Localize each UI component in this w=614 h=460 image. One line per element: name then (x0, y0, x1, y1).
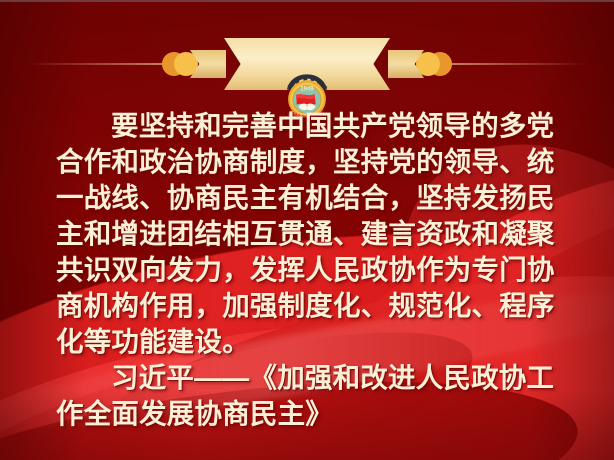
quote-attribution: 习近平——《加强和改进人民政协工作全面发展协商民主》 (56, 360, 568, 432)
header-banner: 1949 中国人民政治协商会议 (0, 32, 614, 94)
top-hairline (0, 0, 614, 2)
emblem-year-label: 1949 (300, 87, 314, 93)
quote-block: 要坚持和完善中国共产党领导的多党合作和政治协商制度，坚持党的领导、统一战线、协商… (56, 108, 568, 432)
quote-body: 要坚持和完善中国共产党领导的多党合作和政治协商制度，坚持党的领导、统一战线、协商… (56, 108, 568, 360)
poster-root: 1949 中国人民政治协商会议 要坚持和完善中国共产党领导的多党合作和政治协商制… (0, 0, 614, 460)
